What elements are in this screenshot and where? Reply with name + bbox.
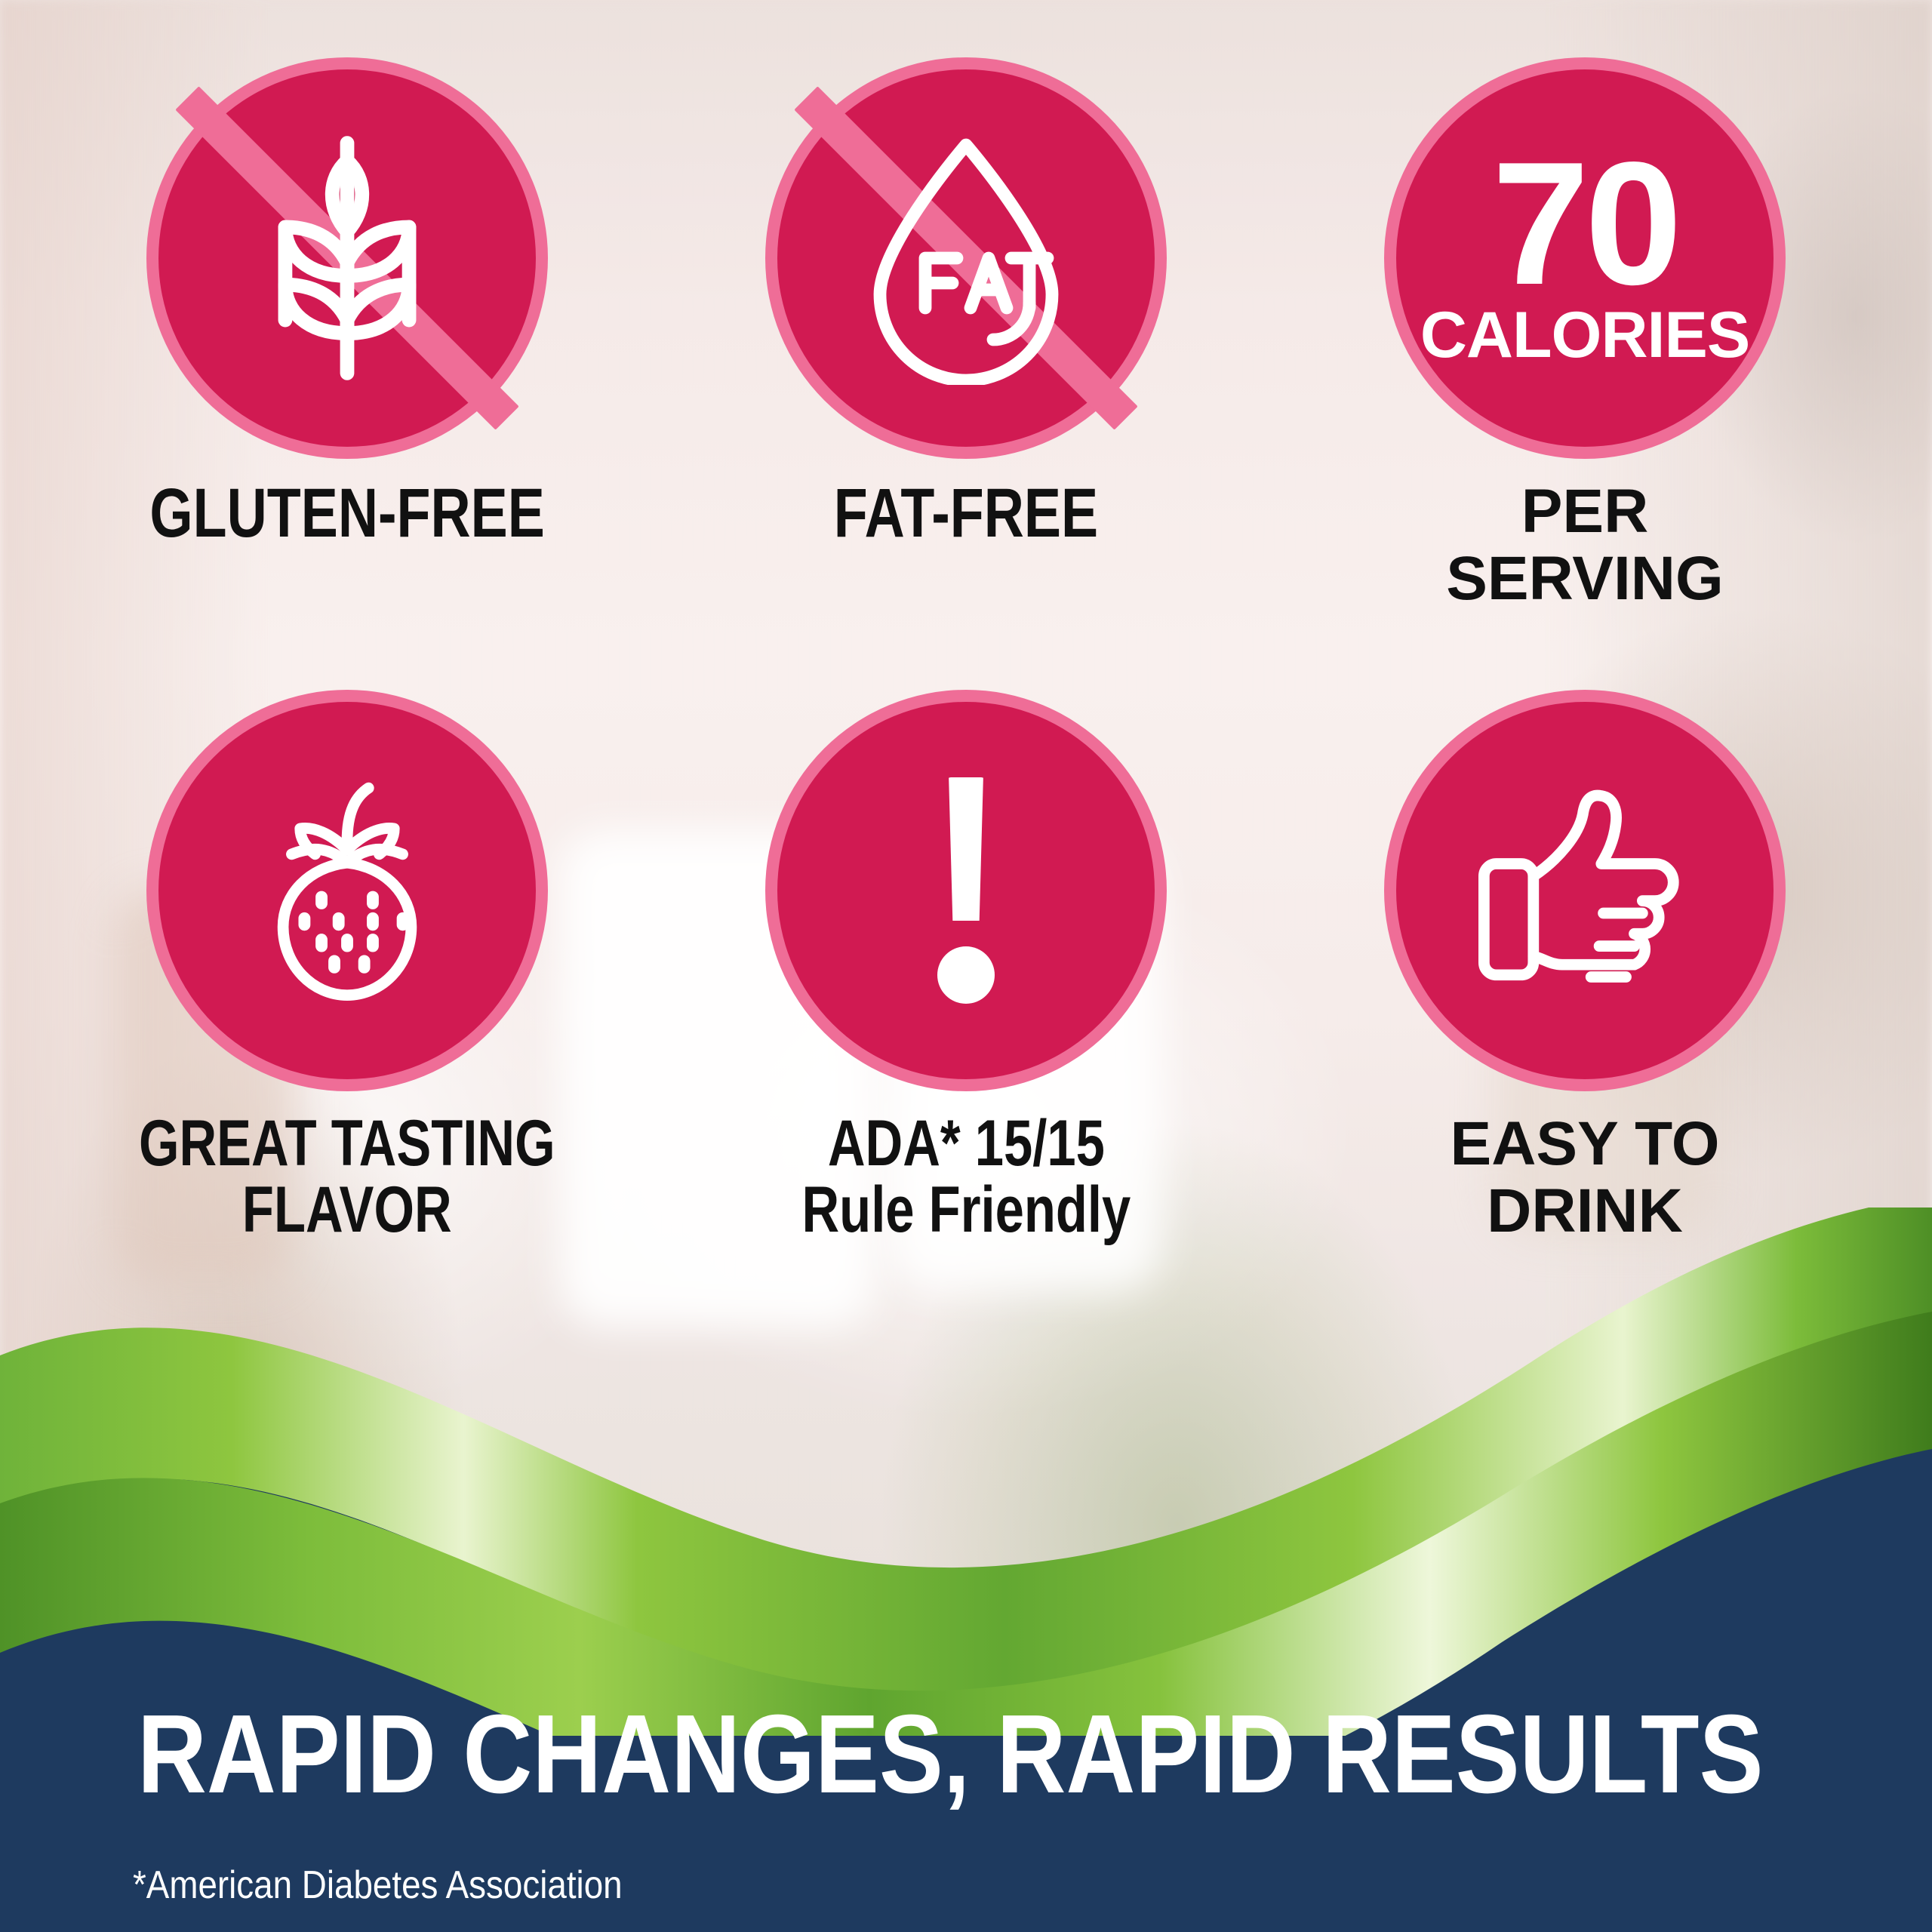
thumbs-up-icon: [1396, 702, 1774, 1079]
badge-label-line: SERVING: [1446, 546, 1724, 613]
badge-label-line: Rule Friendly: [801, 1177, 1131, 1244]
infographic-canvas: GLUTEN-FREE FAT-FREE: [0, 0, 1932, 1932]
footer-headline: RAPID CHANGES, RAPID RESULTS: [137, 1690, 1681, 1819]
badge-great-tasting-flavor: GREAT TASTING FLAVOR: [83, 702, 611, 1243]
badge-label: GLUTEN-FREE: [100, 478, 594, 549]
badge-label-line: GREAT TASTING: [139, 1111, 555, 1177]
badge-label-line: FLAVOR: [139, 1177, 555, 1244]
badge-label: ADA* 15/15 Rule Friendly: [761, 1111, 1172, 1243]
calories-number: 70 CALORIES: [1396, 69, 1774, 447]
badge-circle: 70 CALORIES: [1396, 69, 1774, 447]
badge-circle: [158, 69, 536, 447]
badge-easy-to-drink: EASY TO DRINK: [1321, 702, 1849, 1244]
badge-label-line: EASY TO: [1451, 1111, 1720, 1178]
badge-label-line: FAT-FREE: [834, 478, 1098, 549]
exclamation-bar: [946, 777, 986, 921]
badge-label: GREAT TASTING FLAVOR: [87, 1111, 608, 1243]
badge-calories: 70 CALORIES PER SERVING: [1321, 69, 1849, 612]
badge-circle: [1396, 702, 1774, 1079]
exclamation-dot: [937, 946, 995, 1004]
footer-footnote: *American Diabetes Association: [133, 1863, 1716, 1908]
calories-caption: CALORIES: [1420, 303, 1749, 368]
badge-gluten-free: GLUTEN-FREE: [83, 69, 611, 549]
badge-label: EASY TO DRINK: [1451, 1111, 1720, 1244]
badge-label-line: DRINK: [1451, 1178, 1720, 1245]
badge-ada-rule: ADA* 15/15 Rule Friendly: [702, 702, 1230, 1243]
badge-circle: [777, 69, 1155, 447]
badge-label: PER SERVING: [1446, 478, 1724, 612]
footer-text-block: RAPID CHANGES, RAPID RESULTS *American D…: [0, 1690, 1932, 1908]
badge-circle: [777, 702, 1155, 1079]
badge-label: FAT-FREE: [801, 478, 1131, 549]
exclamation-icon: [777, 702, 1155, 1079]
badge-label-line: PER: [1446, 478, 1724, 546]
wheat-no-icon: [158, 69, 536, 447]
badge-label-line: ADA* 15/15: [801, 1111, 1131, 1177]
badge-circle: [158, 702, 536, 1079]
strawberry-icon: [158, 702, 536, 1079]
fat-droplet-no-icon: [777, 69, 1155, 447]
calories-value: 70: [1492, 149, 1678, 300]
badge-fat-free: FAT-FREE: [702, 69, 1230, 549]
badge-label-line: GLUTEN-FREE: [149, 478, 544, 549]
